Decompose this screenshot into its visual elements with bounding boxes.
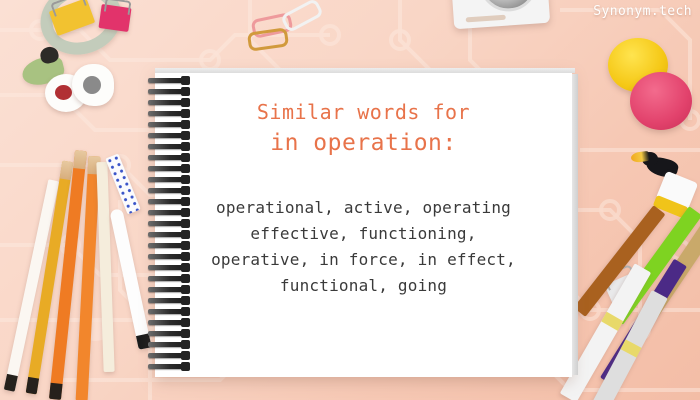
spiral-ring: [148, 177, 188, 182]
spiral-ring: [148, 265, 188, 270]
spiral-ring: [148, 122, 188, 127]
spiral-ring: [148, 232, 188, 237]
macaron-pink: [630, 72, 692, 130]
synonym-line: operative, in force, in effect,: [155, 247, 572, 273]
spiral-ring: [148, 78, 188, 83]
synonym-line: effective, functioning,: [155, 221, 572, 247]
paper-clip-white: [280, 0, 324, 33]
page-title: Similar words for in operation:: [155, 98, 572, 158]
spiral-binding: [148, 78, 192, 374]
synonym-list: operational, active, operating effective…: [155, 195, 572, 299]
synonym-line: operational, active, operating: [155, 195, 572, 221]
spiral-ring: [148, 287, 188, 292]
spiral-ring: [148, 144, 188, 149]
spiral-ring: [148, 199, 188, 204]
spiral-ring: [148, 342, 188, 347]
white-pen: [109, 208, 151, 350]
spiral-ring: [148, 111, 188, 116]
notebook-page: Similar words for in operation: operatio…: [155, 72, 572, 377]
spiral-ring: [148, 320, 188, 325]
eraser-grey: [72, 64, 114, 106]
heading-line-2: in operation:: [155, 128, 572, 158]
site-logo: Synonym.tech: [593, 4, 692, 19]
spiral-ring: [148, 243, 188, 248]
spiral-ring: [148, 364, 188, 369]
spiral-ring: [148, 210, 188, 215]
spiral-ring: [148, 276, 188, 281]
spiral-ring: [148, 188, 188, 193]
spiral-ring: [148, 331, 188, 336]
spiral-ring: [148, 155, 188, 160]
spiral-ring: [148, 221, 188, 226]
camera-lens: [477, 0, 539, 13]
page-edge-right: [572, 74, 578, 375]
camera-grip: [466, 15, 506, 23]
spiral-ring: [148, 133, 188, 138]
camera: [450, 0, 550, 29]
heading-line-1: Similar words for: [155, 98, 572, 126]
spiral-ring: [148, 353, 188, 358]
spiral-ring: [148, 309, 188, 314]
spiral-ring: [148, 254, 188, 259]
synonym-line: functional, going: [155, 273, 572, 299]
page-edge-top: [155, 68, 575, 73]
spiral-ring: [148, 298, 188, 303]
paper-clip-gold: [247, 27, 289, 51]
washi-tape-strip: [105, 154, 140, 215]
pen-cream: [96, 162, 114, 372]
spiral-ring: [148, 100, 188, 105]
spiral-ring: [148, 89, 188, 94]
desk-scene: Similar words for in operation: operatio…: [0, 0, 700, 400]
spiral-ring: [148, 166, 188, 171]
binder-clip-magenta: [98, 4, 131, 32]
